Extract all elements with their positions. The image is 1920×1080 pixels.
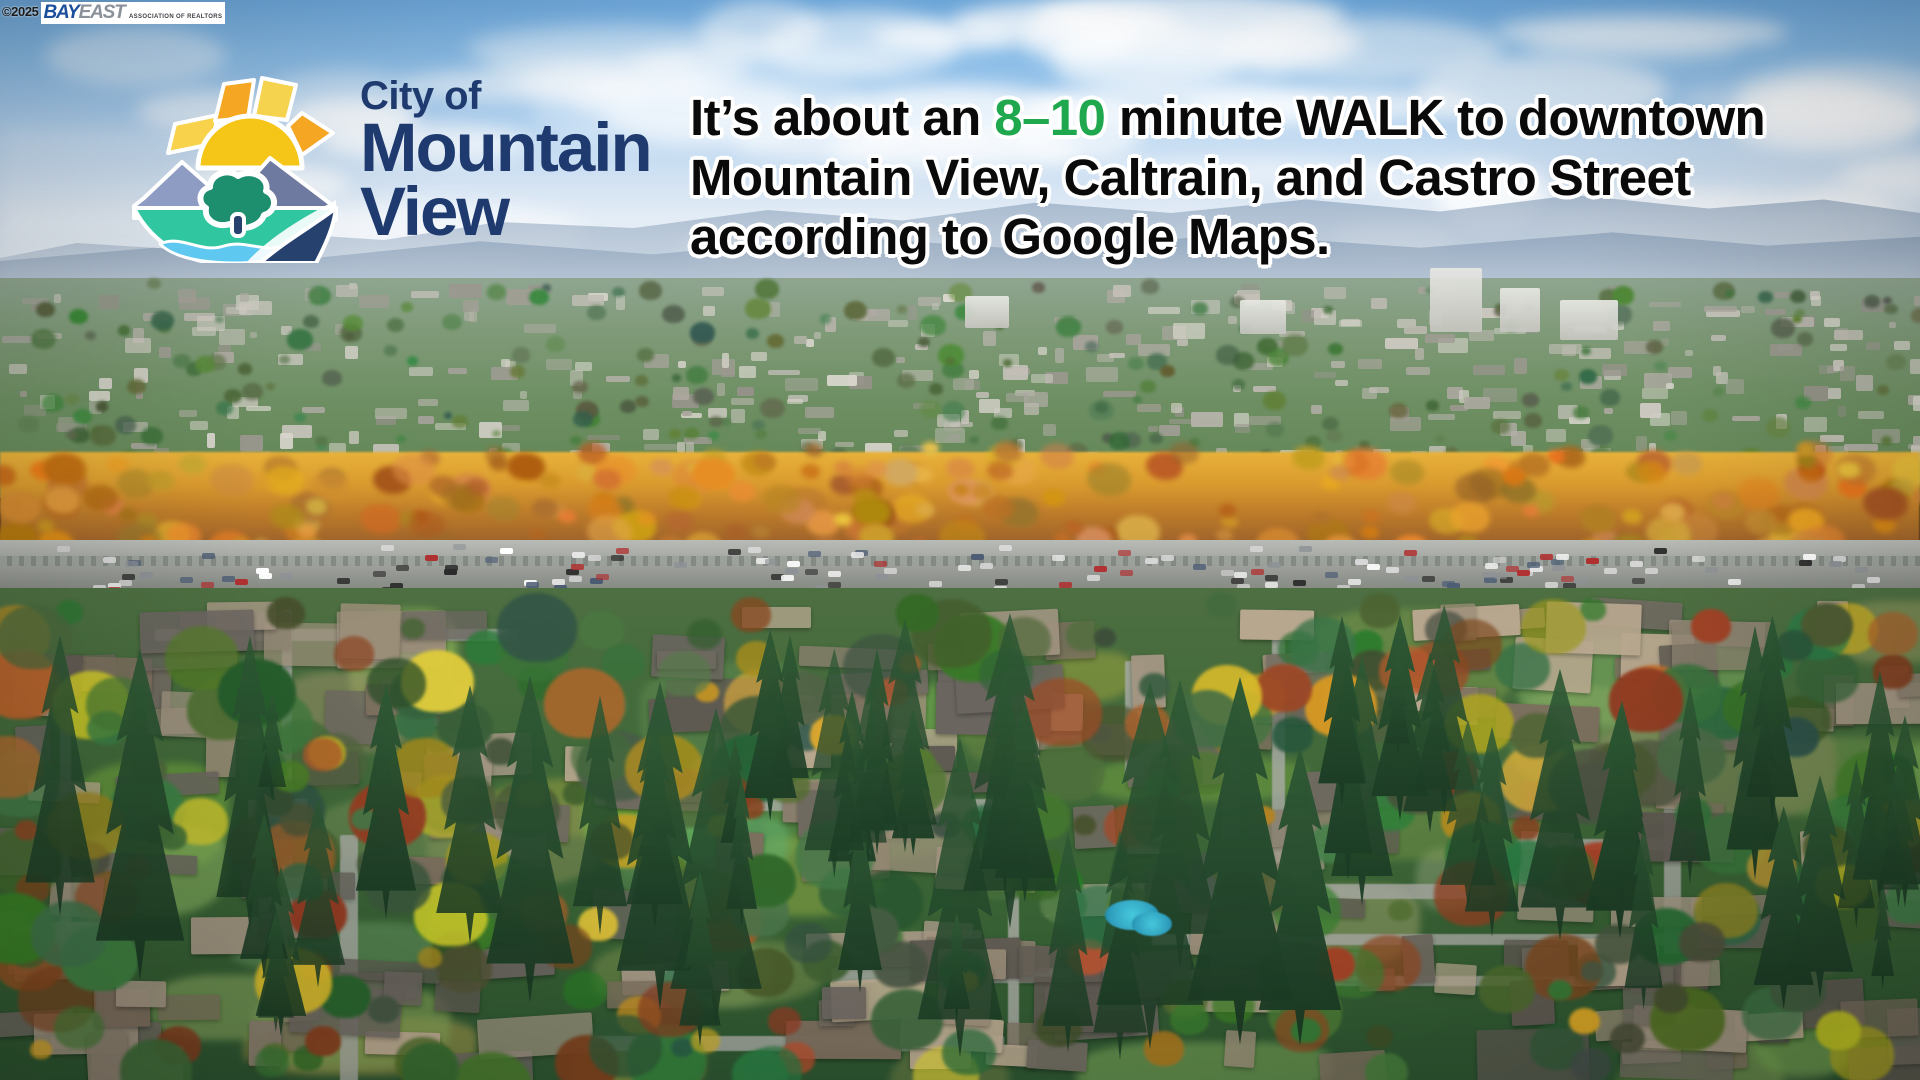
vehicle — [1193, 564, 1206, 570]
vehicle — [1494, 573, 1507, 579]
building — [673, 387, 689, 400]
building — [1811, 296, 1821, 306]
tree-canopy — [1522, 393, 1539, 407]
building — [1137, 404, 1161, 411]
tree-canopy — [1679, 922, 1725, 962]
tree-canopy — [1548, 980, 1572, 1000]
tree-canopy — [151, 311, 174, 330]
building — [703, 306, 715, 316]
autumn-canopy — [752, 525, 770, 538]
tree-canopy — [118, 325, 131, 336]
vehicle — [1422, 576, 1435, 582]
building — [1109, 353, 1126, 358]
tree-canopy — [444, 412, 452, 419]
autumn-canopy — [922, 442, 940, 455]
vehicle — [1556, 554, 1569, 560]
vehicle — [611, 555, 624, 561]
vehicle — [279, 573, 292, 579]
vehicle — [235, 579, 248, 585]
building — [226, 307, 248, 314]
building — [1820, 435, 1844, 442]
autumn-canopy — [530, 528, 547, 541]
tree-canopy — [384, 345, 397, 356]
building — [787, 399, 803, 404]
building — [1335, 380, 1348, 385]
building — [524, 324, 556, 333]
watermark-copyright: ©2025 — [2, 2, 39, 18]
tree-canopy — [687, 619, 722, 649]
vehicle — [396, 565, 409, 571]
building — [179, 410, 197, 417]
vehicle — [995, 579, 1008, 585]
autumn-canopy — [692, 458, 735, 490]
autumn-canopy — [763, 485, 801, 513]
vehicle — [569, 576, 582, 582]
vehicle — [57, 546, 70, 552]
tree-canopy — [1085, 341, 1098, 352]
building — [785, 378, 818, 391]
tree-canopy — [1170, 1002, 1208, 1035]
tree-canopy — [1426, 400, 1439, 410]
building — [1191, 412, 1223, 427]
building — [737, 387, 754, 396]
slide-canvas: ©2025 BAYEAST ASSOCIATION OF REALTORS — [0, 0, 1920, 1080]
tree-canopy — [442, 314, 462, 330]
building — [1642, 388, 1668, 399]
tree-canopy — [945, 357, 955, 365]
autumn-canopy — [179, 454, 206, 474]
building — [409, 367, 433, 376]
tree-canopy — [691, 1028, 720, 1053]
tree-canopy — [65, 394, 79, 405]
tree-canopy — [820, 314, 831, 323]
tree-canopy — [1263, 391, 1286, 410]
tree-canopy — [1326, 429, 1342, 442]
building — [1358, 359, 1383, 369]
tree-canopy — [1795, 396, 1811, 409]
vehicle — [1161, 555, 1174, 561]
tree-canopy — [635, 396, 649, 407]
tree-canopy — [1073, 815, 1096, 834]
tree-canopy — [73, 409, 92, 425]
building — [2, 336, 33, 342]
building — [1371, 298, 1388, 309]
tree-canopy — [287, 329, 312, 350]
vehicle — [552, 579, 565, 585]
tree-canopy — [1141, 279, 1159, 293]
building — [1473, 365, 1505, 375]
tree-canopy — [1579, 369, 1597, 384]
autumn-canopy — [1737, 478, 1779, 510]
building — [953, 378, 974, 390]
tree-canopy — [1388, 900, 1413, 922]
building — [1390, 417, 1421, 431]
building — [805, 407, 835, 417]
autumn-canopy — [1362, 510, 1380, 523]
tree-canopy — [1106, 320, 1123, 334]
watermark-subtitle: ASSOCIATION OF REALTORS — [129, 14, 222, 20]
building — [1914, 296, 1920, 307]
building — [503, 400, 529, 411]
vehicle — [588, 555, 601, 561]
autumn-canopy — [1450, 502, 1490, 532]
tree-canopy — [343, 315, 363, 332]
building — [418, 416, 435, 425]
autumn-canopy — [1837, 462, 1859, 479]
tree-canopy — [1883, 297, 1891, 304]
autumn-canopy — [147, 471, 174, 491]
vehicle — [425, 555, 438, 561]
building — [1171, 403, 1183, 413]
autumn-canopy — [1660, 503, 1684, 521]
building — [54, 294, 62, 303]
building — [1549, 344, 1582, 353]
tree-canopy — [969, 436, 979, 444]
tree-canopy — [1664, 430, 1677, 441]
tree-canopy — [418, 947, 442, 967]
tree-canopy — [334, 636, 374, 671]
tree-canopy — [684, 428, 698, 440]
autumn-canopy — [1637, 461, 1666, 483]
building — [1866, 342, 1881, 349]
tree-canopy — [1256, 664, 1312, 712]
building — [1055, 348, 1064, 363]
tree-canopy — [693, 388, 713, 405]
building — [411, 291, 439, 299]
vehicle — [958, 565, 971, 571]
tree-canopy — [1521, 599, 1586, 655]
autumn-canopy — [946, 458, 974, 479]
building — [449, 284, 482, 297]
vehicle — [1265, 582, 1278, 588]
tree-canopy — [896, 594, 939, 631]
building — [302, 407, 325, 413]
tree-canopy — [731, 597, 772, 632]
building — [1856, 375, 1873, 391]
building — [1838, 406, 1846, 418]
vehicle — [1250, 546, 1263, 552]
vehicle — [616, 548, 629, 554]
vehicle — [1632, 578, 1645, 584]
building — [1148, 307, 1180, 314]
swimming-pool — [1132, 912, 1172, 936]
bay-east-watermark: ©2025 BAYEAST ASSOCIATION OF REALTORS — [0, 0, 229, 26]
tree-canopy — [1328, 343, 1343, 355]
building — [375, 408, 407, 418]
vehicle — [828, 582, 841, 588]
tree-canopy — [1766, 417, 1791, 437]
autumn-canopy — [306, 498, 328, 514]
building — [1858, 411, 1884, 419]
vehicle — [999, 545, 1012, 551]
city-logo-wordmark: City of Mountain View — [360, 78, 651, 244]
autumn-canopy — [1042, 489, 1066, 507]
headline-line-1-post: minute WALK to downtown — [1105, 89, 1765, 146]
autumn-canopy — [753, 453, 776, 470]
tree-canopy — [872, 348, 895, 367]
building — [1043, 424, 1056, 436]
building — [1235, 424, 1250, 434]
building — [349, 431, 359, 444]
building — [246, 406, 271, 411]
watermark-brand-east: EAST — [79, 2, 125, 23]
autumn-canopy — [270, 504, 304, 529]
vehicle — [500, 548, 513, 554]
vehicle — [485, 557, 498, 563]
tree-canopy — [785, 923, 832, 963]
tree-canopy — [1491, 419, 1510, 435]
tree-canopy — [920, 400, 942, 418]
watermark-brand: BAYEAST — [44, 3, 125, 22]
tree-canopy — [367, 658, 425, 708]
tree-canopy — [1771, 318, 1795, 338]
autumn-canopy — [1329, 465, 1350, 481]
tree-canopy — [1581, 961, 1604, 981]
tree-canopy — [1797, 332, 1813, 345]
autumn-canopy — [44, 486, 80, 513]
autumn-canopy — [1580, 505, 1617, 533]
building — [345, 346, 358, 359]
building — [1649, 302, 1681, 307]
building — [1765, 309, 1786, 314]
tree-canopy — [637, 348, 654, 362]
building — [702, 287, 724, 296]
building — [827, 375, 857, 386]
mid-ground-building — [1240, 300, 1286, 334]
building — [1415, 348, 1424, 360]
building — [1671, 411, 1687, 425]
building — [1003, 365, 1027, 380]
vehicle — [119, 580, 132, 586]
tree-canopy — [401, 618, 425, 639]
vehicle — [1705, 567, 1718, 573]
vehicle — [572, 552, 585, 558]
building — [1173, 323, 1206, 338]
autumn-canopy — [916, 503, 934, 517]
tree-canopy — [1291, 1018, 1320, 1043]
building — [1038, 347, 1048, 355]
watermark-brand-bay: BAY — [44, 2, 79, 23]
autumn-canopy — [298, 525, 316, 538]
tree-canopy — [1149, 433, 1163, 444]
tree-canopy — [1056, 316, 1081, 337]
tree-canopy — [1109, 432, 1130, 449]
building — [1830, 344, 1848, 351]
vehicle — [453, 544, 466, 550]
vehicle — [1586, 558, 1599, 564]
tree-canopy — [1725, 290, 1733, 297]
building — [806, 339, 814, 346]
vehicle — [1325, 572, 1338, 578]
tree-canopy — [487, 284, 507, 300]
building — [1241, 284, 1259, 290]
autumn-canopy — [987, 461, 1012, 480]
vehicle — [373, 571, 386, 577]
tree-canopy — [1032, 282, 1045, 293]
building — [89, 391, 110, 401]
building — [835, 442, 854, 447]
autumn-canopy — [409, 511, 445, 538]
tree-canopy — [672, 374, 681, 381]
building — [1369, 387, 1388, 393]
tree-canopy — [31, 901, 108, 967]
building — [1324, 287, 1346, 299]
vehicle — [1540, 554, 1553, 560]
vehicle — [1355, 559, 1368, 565]
tree-canopy — [36, 302, 55, 318]
vehicle — [1268, 562, 1281, 568]
mid-ground-building — [965, 296, 1009, 328]
tree-canopy — [54, 1006, 103, 1049]
tree-canopy — [85, 331, 96, 340]
tree-canopy — [407, 356, 418, 365]
tree-canopy — [1561, 382, 1572, 391]
building — [1148, 426, 1158, 432]
tree-canopy — [216, 401, 233, 415]
vehicle — [1442, 581, 1455, 587]
tree-canopy — [66, 430, 76, 439]
vehicle — [1145, 558, 1158, 564]
tree-canopy — [1094, 628, 1116, 647]
tree-canopy — [573, 411, 593, 427]
tree-canopy — [42, 394, 64, 412]
building — [336, 285, 358, 297]
autumn-canopy — [1065, 521, 1082, 534]
vehicle — [381, 545, 394, 551]
vehicle — [1482, 572, 1495, 578]
tree-canopy — [1216, 345, 1240, 365]
autumn-canopy — [1797, 442, 1814, 455]
vehicle — [1574, 579, 1587, 585]
tree-canopy — [1886, 354, 1906, 371]
building — [1732, 416, 1760, 421]
building — [888, 320, 908, 327]
tree-canopy — [768, 1007, 801, 1035]
vehicle — [1265, 575, 1278, 581]
building — [814, 332, 821, 339]
building — [1113, 285, 1131, 296]
tree-canopy — [1389, 403, 1408, 418]
vehicle — [1234, 572, 1247, 578]
autumn-canopy — [255, 476, 273, 490]
headline-line-2: Mountain View, Caltrain, and Castro Stre… — [690, 148, 1920, 208]
vehicle — [1728, 579, 1741, 585]
building — [1910, 359, 1920, 374]
building — [1425, 334, 1455, 343]
autumn-canopy — [1863, 487, 1908, 521]
autumn-canopy — [1221, 516, 1238, 529]
building — [1428, 414, 1454, 420]
tree-canopy — [303, 315, 319, 328]
tree-canopy — [929, 383, 944, 395]
building — [717, 383, 725, 397]
autumn-canopy — [1344, 447, 1387, 479]
building — [1024, 403, 1039, 415]
building — [1086, 367, 1118, 382]
headline-line-3: according to Google Maps. — [690, 207, 1920, 267]
tree-canopy — [90, 425, 116, 446]
building — [1006, 393, 1028, 402]
autumn-canopy — [593, 469, 621, 490]
building — [1602, 364, 1627, 376]
building — [9, 364, 27, 373]
vehicle — [1052, 555, 1065, 561]
vehicle — [1299, 546, 1312, 552]
building — [1653, 321, 1670, 331]
building — [190, 421, 208, 429]
headline-line-1-pre: It’s about an — [690, 89, 994, 146]
vehicle — [1561, 576, 1574, 582]
vehicle — [1527, 562, 1540, 568]
building — [520, 391, 527, 399]
tree-canopy — [639, 281, 662, 300]
tree-canopy — [1266, 422, 1284, 437]
building — [731, 409, 746, 424]
building — [1889, 322, 1896, 328]
tree-canopy — [294, 413, 305, 422]
tree-canopy — [1282, 334, 1308, 355]
watermark-badge: BAYEAST ASSOCIATION OF REALTORS — [41, 2, 226, 24]
tree-canopy — [315, 436, 328, 446]
tree-canopy — [920, 315, 946, 336]
vehicle — [444, 569, 457, 575]
building — [678, 361, 686, 367]
tree-canopy — [570, 436, 582, 446]
building — [99, 378, 112, 389]
vehicle — [1645, 568, 1658, 574]
autumn-canopy — [1799, 465, 1822, 482]
tree-canopy — [195, 356, 215, 372]
building — [502, 425, 520, 430]
tree-canopy — [267, 597, 304, 629]
vehicle — [1506, 566, 1519, 572]
autumn-canopy — [210, 464, 253, 497]
tree-canopy — [1881, 436, 1892, 445]
tree-canopy — [1524, 413, 1543, 428]
building — [280, 433, 293, 448]
vehicle — [1087, 575, 1100, 581]
autumn-canopy — [1087, 463, 1131, 496]
autumn-canopy — [982, 496, 1014, 520]
building — [731, 398, 754, 405]
headline-highlight-minutes: 8–10 — [994, 89, 1105, 146]
tree-canopy — [1089, 400, 1114, 420]
building — [219, 329, 245, 345]
vehicle — [1404, 550, 1417, 556]
vehicle — [874, 561, 887, 567]
building — [464, 312, 474, 320]
building — [159, 347, 170, 357]
tree-canopy — [620, 400, 636, 413]
tree-canopy — [1610, 1023, 1645, 1053]
tree-canopy — [1479, 965, 1535, 1013]
vehicle — [1405, 576, 1418, 582]
vehicle — [808, 551, 821, 557]
tree-canopy — [115, 416, 137, 434]
building — [359, 295, 389, 308]
tree-canopy — [96, 401, 109, 411]
building — [448, 368, 467, 374]
vehicle — [851, 552, 864, 558]
tree-canopy — [141, 427, 163, 445]
autumn-canopy — [532, 499, 557, 518]
building — [1546, 429, 1567, 442]
tree-canopy — [658, 651, 711, 697]
tree-canopy — [1206, 592, 1236, 618]
building — [1726, 379, 1744, 394]
tree-canopy — [510, 365, 526, 378]
building — [751, 352, 767, 362]
